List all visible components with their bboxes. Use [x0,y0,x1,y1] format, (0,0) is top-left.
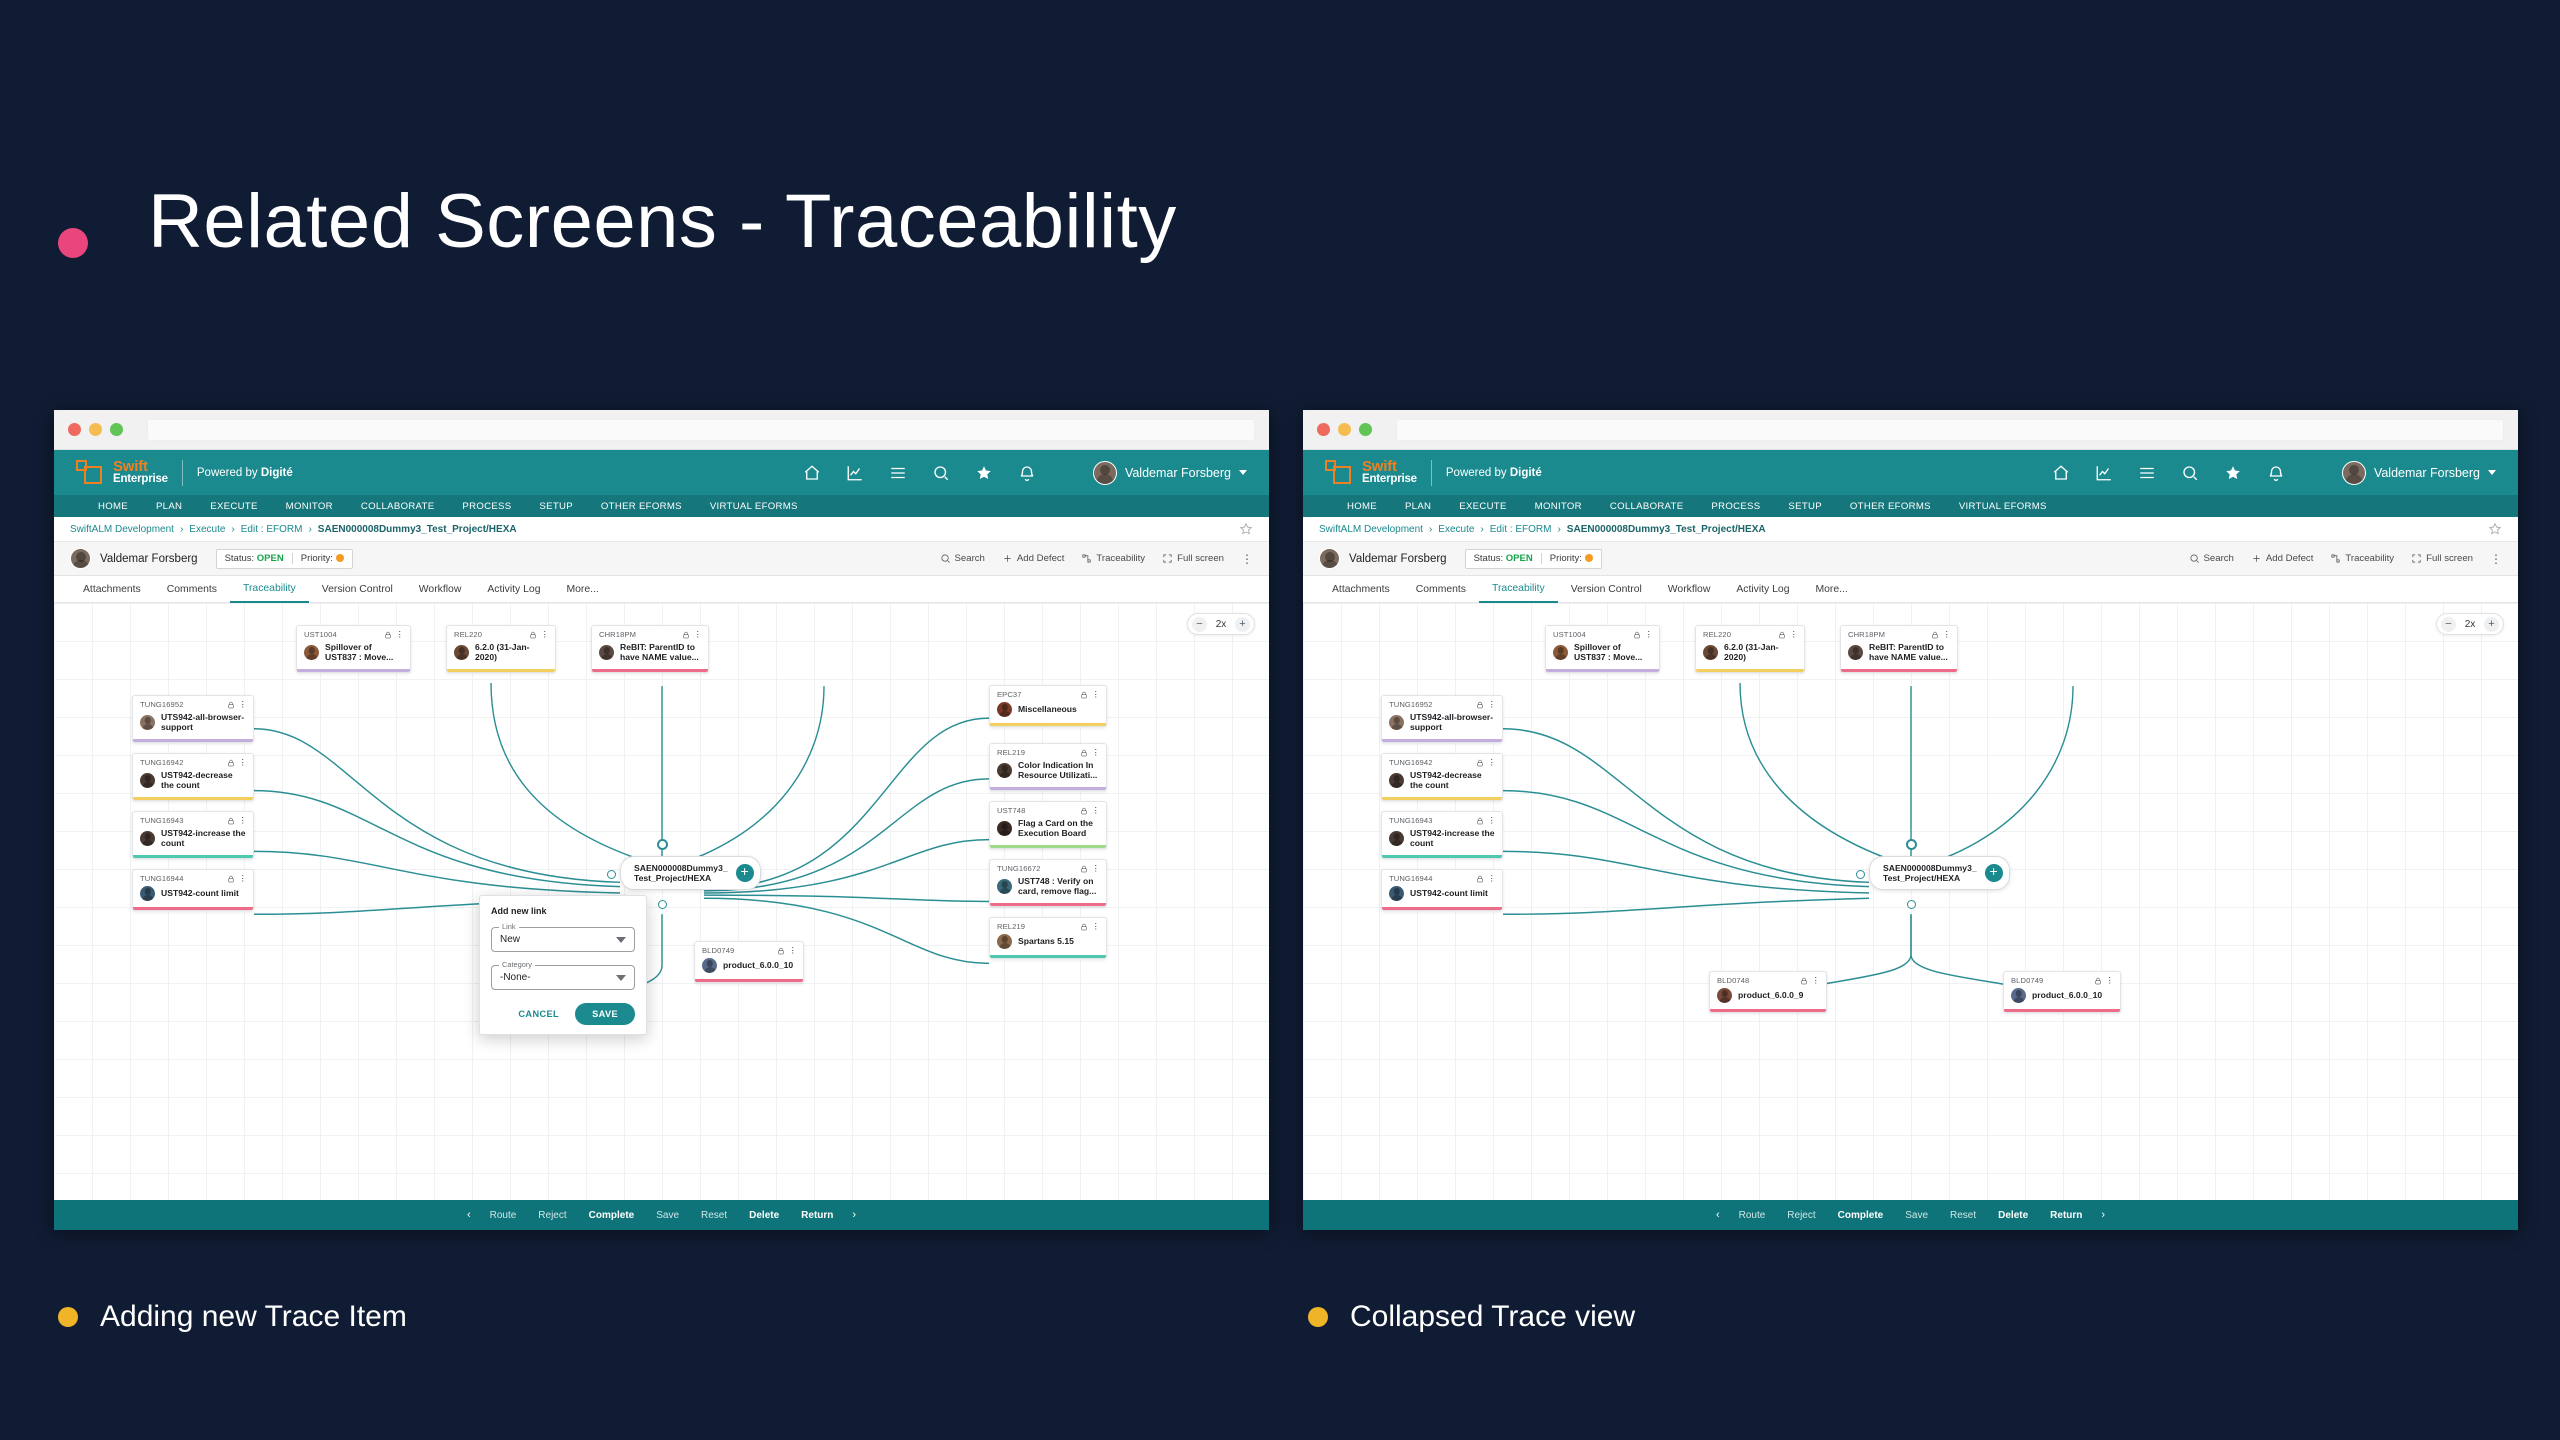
breadcrumb-item-1[interactable]: Execute [1438,524,1474,535]
nav-item-monitor[interactable]: MONITOR [1521,501,1596,512]
footer-reset-button[interactable]: Reset [690,1210,738,1221]
brand-name-line1: Swift [113,459,168,474]
zoom-in-button[interactable]: + [2484,617,2499,632]
node-accent [133,797,253,800]
avatar [1319,548,1340,569]
node-title: product_6.0.0_10 [2032,990,2102,1000]
trace-node[interactable]: UST1004 ⋮ Spillover of UST837 : Move... [296,625,411,673]
search-action[interactable]: Search [2189,553,2234,564]
category-select-field[interactable]: Category -None- [491,965,635,990]
home-icon[interactable] [803,464,821,482]
node-menu-icon[interactable]: ⋮ [1092,922,1101,931]
window-minimize-dot[interactable] [89,423,102,436]
window-close-dot[interactable] [68,423,81,436]
full-screen-action[interactable]: Full screen [2411,553,2473,564]
node-title: UST942-decrease the count [161,770,246,791]
node-accent [990,903,1106,906]
record-tabs: Attachments Comments Traceability Versio… [54,576,1269,603]
node-menu-icon[interactable]: ⋮ [1645,630,1654,639]
node-menu-icon[interactable]: ⋮ [1812,976,1821,985]
connector-bottom-dot[interactable] [1907,900,1916,909]
node-accent [1382,855,1502,858]
trace-node[interactable]: REL219 ⋮ Spartans 5.15 [989,917,1107,959]
node-menu-icon[interactable]: ⋮ [239,758,248,767]
node-title: UST942-decrease the count [1410,770,1495,791]
window-maximize-dot[interactable] [110,423,123,436]
trace-node[interactable]: CHR18PM ⋮ ReBIT: ParentID to have NAME v… [591,625,709,673]
node-menu-icon[interactable]: ⋮ [239,874,248,883]
tab-workflow[interactable]: Workflow [1655,576,1724,603]
node-menu-icon[interactable]: ⋮ [1488,874,1497,883]
connector-bottom-dot[interactable] [658,900,667,909]
node-title: UST942-increase the count [161,828,246,849]
connector-left-dot[interactable] [1856,870,1865,879]
node-id: BLD0748 [1717,976,1749,985]
bell-icon[interactable] [2267,464,2285,482]
node-menu-icon[interactable]: ⋮ [396,630,405,639]
nav-item-plan[interactable]: PLAN [142,501,196,512]
star-icon[interactable] [2224,464,2242,482]
breadcrumb-item-3[interactable]: SAEN000008Dummy3_Test_Project/HEXA [318,524,517,535]
node-accent [2004,1009,2120,1012]
node-accent [133,739,253,742]
action-footer: ‹ Route Reject Complete Save Reset Delet… [1303,1200,2518,1230]
footer-save-button[interactable]: Save [645,1210,690,1221]
search-icon[interactable] [932,464,950,482]
chart-icon[interactable] [2095,464,2113,482]
brand-logo[interactable]: Swift Enterprise [76,459,168,486]
node-accent [1841,669,1957,672]
node-title: UST942-increase the count [1410,828,1495,849]
tab-more[interactable]: More... [1802,576,1860,603]
connector-left-dot[interactable] [607,870,616,879]
node-menu-icon[interactable]: ⋮ [239,700,248,709]
caption-right-text: Collapsed Trace view [1350,1300,1635,1334]
node-menu-icon[interactable]: ⋮ [1092,748,1101,757]
trace-node[interactable]: REL219 ⋮ Color Indication In Resource Ut… [989,743,1107,791]
breadcrumb-item-0[interactable]: SwiftALM Development [1319,524,1423,535]
node-accent [1382,907,1502,910]
lock-icon [227,701,235,709]
avatar [140,831,155,846]
favorite-star-icon[interactable] [2488,522,2502,536]
cancel-button[interactable]: CANCEL [512,1005,565,1023]
tab-workflow[interactable]: Workflow [406,576,475,603]
breadcrumb-separator: › [1429,524,1432,535]
avatar [2011,988,2026,1003]
lock-icon [227,875,235,883]
avatar [1389,886,1404,901]
node-menu-icon[interactable]: ⋮ [1488,700,1497,709]
breadcrumb-separator: › [1557,524,1560,535]
node-menu-icon[interactable]: ⋮ [239,816,248,825]
caption-left: Adding new Trace Item [58,1300,407,1334]
more-options-icon[interactable]: ⋮ [1241,553,1253,565]
node-title: Spillover of UST837 : Move... [325,642,403,663]
tab-comments[interactable]: Comments [1403,576,1479,603]
footer-route-button[interactable]: Route [1728,1210,1777,1221]
node-menu-icon[interactable]: ⋮ [541,630,550,639]
nav-item-execute[interactable]: EXECUTE [196,501,271,512]
tab-traceability[interactable]: Traceability [230,576,309,603]
traceability-action[interactable]: Traceability [1081,553,1145,564]
node-id: TUNG16944 [140,874,184,883]
chevron-down-icon [1239,470,1247,475]
chevron-down-icon [2488,470,2496,475]
node-title: product_6.0.0_9 [1738,990,1803,1000]
app-header: Swift Enterprise Powered by Digité Valde… [54,450,1269,495]
trace-node[interactable]: REL220 ⋮ 6.2.0 (31-Jan-2020) [1695,625,1805,673]
node-accent [1710,1009,1826,1012]
powered-by-label: Powered by Digité [1446,467,1542,479]
breadcrumb-item-2[interactable]: Edit : EFORM [241,524,303,535]
prev-arrow-icon[interactable]: ‹ [459,1209,479,1221]
record-owner-name: Valdemar Forsberg [1349,553,1447,565]
node-title: UST748 : Verify on card, remove flag... [1018,876,1099,897]
breadcrumb-item-3[interactable]: SAEN000008Dummy3_Test_Project/HEXA [1567,524,1766,535]
node-title: product_6.0.0_10 [723,960,793,970]
traceability-canvas[interactable]: − 2x + UST1004 ⋮ Spillover of UST837 : M… [54,603,1269,1200]
nav-item-execute[interactable]: EXECUTE [1445,501,1520,512]
footer-return-button[interactable]: Return [790,1210,844,1221]
breadcrumb-item-1[interactable]: Execute [189,524,225,535]
trace-node[interactable]: BLD0749 ⋮ product_6.0.0_10 [694,941,804,983]
node-menu-icon[interactable]: ⋮ [694,630,703,639]
node-menu-icon[interactable]: ⋮ [1488,816,1497,825]
node-title: 6.2.0 (31-Jan-2020) [475,642,548,663]
zoom-level-label: 2x [2462,619,2478,630]
trace-node[interactable]: TUNG16942 ⋮ UST942-decrease the count [132,753,254,801]
nav-item-setup[interactable]: SETUP [525,501,587,512]
record-owner-name: Valdemar Forsberg [100,553,198,565]
avatar [997,702,1012,717]
center-node[interactable]: SAEN000008Dummy3_Test_Project/HEXA + [1869,856,2010,890]
node-id: TUNG16672 [997,864,1041,873]
nav-item-other-eforms[interactable]: OTHER EFORMS [587,501,696,512]
node-id: REL219 [997,748,1025,757]
add-link-button[interactable]: + [736,864,754,882]
bell-icon[interactable] [1018,464,1036,482]
nav-item-home[interactable]: HOME [1333,501,1391,512]
browser-url-bar[interactable] [1396,419,2504,441]
nav-item-virtual-eforms[interactable]: VIRTUAL EFORMS [696,501,812,512]
trace-node[interactable]: BLD0748 ⋮ product_6.0.0_9 [1709,971,1827,1013]
avatar [702,958,717,973]
lock-icon [1800,977,1808,985]
node-id: CHR18PM [599,630,636,639]
record-tabs: Attachments Comments Traceability Versio… [1303,576,2518,603]
main-nav: HOME PLAN EXECUTE MONITOR COLLABORATE PR… [1303,495,2518,517]
footer-delete-button[interactable]: Delete [738,1210,790,1221]
lock-icon [682,631,690,639]
main-nav: HOME PLAN EXECUTE MONITOR COLLABORATE PR… [54,495,1269,517]
breadcrumb-separator: › [1480,524,1483,535]
tab-attachments[interactable]: Attachments [70,576,154,603]
zoom-in-button[interactable]: + [1235,617,1250,632]
center-node-title: SAEN000008Dummy3_Test_Project/HEXA [634,863,728,884]
node-menu-icon[interactable]: ⋮ [1092,690,1101,699]
nav-item-process[interactable]: PROCESS [1697,501,1774,512]
menu-icon[interactable] [2138,464,2156,482]
priority-dot-icon [336,554,344,562]
node-title: 6.2.0 (31-Jan-2020) [1724,642,1797,663]
node-title: Spillover of UST837 : Move... [1574,642,1652,663]
trace-node[interactable]: CHR18PM ⋮ ReBIT: ParentID to have NAME v… [1840,625,1958,673]
footer-route-button[interactable]: Route [479,1210,528,1221]
header-divider [1431,460,1432,486]
user-menu[interactable]: Valdemar Forsberg [1093,461,1247,485]
tab-activity-log[interactable]: Activity Log [474,576,553,603]
node-id: UST748 [997,806,1025,815]
avatar [599,645,614,660]
nav-item-collaborate[interactable]: COLLABORATE [347,501,449,512]
trace-node[interactable]: TUNG16952 ⋮ UTS942-all-browser-support [1381,695,1503,743]
footer-complete-button[interactable]: Complete [578,1210,646,1221]
avatar [140,715,155,730]
node-menu-icon[interactable]: ⋮ [1790,630,1799,639]
link-field-label: Link [499,922,519,931]
node-accent [1382,797,1502,800]
tab-version-control[interactable]: Version Control [1558,576,1655,603]
tab-attachments[interactable]: Attachments [1319,576,1403,603]
zoom-control[interactable]: − 2x + [2436,613,2504,635]
tab-traceability[interactable]: Traceability [1479,576,1558,603]
full-screen-action[interactable]: Full screen [1162,553,1224,564]
home-icon[interactable] [2052,464,2070,482]
zoom-control[interactable]: − 2x + [1187,613,1255,635]
user-name-label: Valdemar Forsberg [1125,466,1231,480]
zoom-level-label: 2x [1213,619,1229,630]
footer-reject-button[interactable]: Reject [527,1210,577,1221]
avatar [1389,715,1404,730]
node-accent [133,907,253,910]
lock-icon [1778,631,1786,639]
breadcrumb-separator: › [180,524,183,535]
chart-icon[interactable] [846,464,864,482]
node-title: Flag a Card on the Execution Board [1018,818,1099,839]
node-id: BLD0749 [2011,976,2043,985]
tab-activity-log[interactable]: Activity Log [1723,576,1802,603]
app-header: Swift Enterprise Powered by Digité Valde… [1303,450,2518,495]
window-minimize-dot[interactable] [1338,423,1351,436]
breadcrumb-item-2[interactable]: Edit : EFORM [1490,524,1552,535]
nav-item-home[interactable]: HOME [84,501,142,512]
lock-icon [227,759,235,767]
trace-node[interactable]: TUNG16942 ⋮ UST942-decrease the count [1381,753,1503,801]
node-title: UTS942-all-browser-support [1410,712,1495,733]
trace-node[interactable]: BLD0749 ⋮ product_6.0.0_10 [2003,971,2121,1013]
priority-dot-icon [1585,554,1593,562]
node-id: TUNG16952 [140,700,184,709]
user-menu[interactable]: Valdemar Forsberg [2342,461,2496,485]
node-menu-icon[interactable]: ⋮ [1488,758,1497,767]
node-accent [133,855,253,858]
avatar [997,763,1012,778]
trace-node[interactable]: TUNG16952 ⋮ UTS942-all-browser-support [132,695,254,743]
header-divider [182,460,183,486]
node-title: ReBIT: ParentID to have NAME value... [620,642,701,663]
node-accent [990,955,1106,958]
avatar [1093,461,1117,485]
link-select-field[interactable]: Link New [491,927,635,952]
status-badge: Status: OPEN Priority: [1465,549,1602,569]
avatar [454,645,469,660]
window-chrome [1303,410,2518,450]
node-accent [1696,669,1804,672]
node-id: TUNG16942 [140,758,184,767]
lock-icon [2094,977,2102,985]
breadcrumb-item-0[interactable]: SwiftALM Development [70,524,174,535]
node-id: CHR18PM [1848,630,1885,639]
add-new-link-dialog[interactable]: Add new link Link New Category -None- CA… [479,895,647,1035]
node-id: TUNG16943 [1389,816,1433,825]
avatar [2342,461,2366,485]
brand-name-line2: Enterprise [113,474,168,486]
lock-icon [1080,691,1088,699]
caption-bullet-icon [1308,1307,1328,1327]
avatar [1717,988,1732,1003]
chevron-down-icon [616,937,626,943]
trace-node[interactable]: TUNG16944 ⋮ UST942-count limit [1381,869,1503,911]
screenshot-right-collapsed-trace-view: Swift Enterprise Powered by Digité Valde… [1303,410,2518,1230]
footer-reset-button[interactable]: Reset [1939,1210,1987,1221]
footer-complete-button[interactable]: Complete [1827,1210,1895,1221]
brand-logo[interactable]: Swift Enterprise [1325,459,1417,486]
category-field-label: Category [499,960,535,969]
footer-return-button[interactable]: Return [2039,1210,2093,1221]
priority-segment: Priority: [1541,553,1601,564]
lock-icon [1080,923,1088,931]
node-id: REL220 [1703,630,1731,639]
add-defect-action[interactable]: Add Defect [1002,553,1064,564]
priority-segment: Priority: [292,553,352,564]
connector-top-dot[interactable] [1906,839,1917,850]
traceability-action[interactable]: Traceability [2330,553,2394,564]
link-field-value: New [500,934,520,945]
nav-item-virtual-eforms[interactable]: VIRTUAL EFORMS [1945,501,2061,512]
zoom-out-button[interactable]: − [1192,617,1207,632]
center-node[interactable]: SAEN000008Dummy3_Test_Project/HEXA + [620,856,761,890]
next-arrow-icon[interactable]: › [2093,1209,2113,1221]
node-accent [990,787,1106,790]
trace-node[interactable]: REL220 ⋮ 6.2.0 (31-Jan-2020) [446,625,556,673]
prev-arrow-icon[interactable]: ‹ [1708,1209,1728,1221]
trace-node[interactable]: TUNG16672 ⋮ UST748 : Verify on card, rem… [989,859,1107,907]
lock-icon [1080,865,1088,873]
lock-icon [1476,817,1484,825]
lock-icon [1476,759,1484,767]
node-title: UST942-count limit [161,888,239,898]
window-chrome [54,410,1269,450]
trace-node[interactable]: EPC37 ⋮ Miscellaneous [989,685,1107,727]
add-defect-action[interactable]: Add Defect [2251,553,2313,564]
page-title: Related Screens - Traceability [148,178,1177,265]
star-icon[interactable] [975,464,993,482]
menu-icon[interactable] [889,464,907,482]
trace-node[interactable]: UST1004 ⋮ Spillover of UST837 : Move... [1545,625,1660,673]
user-name-label: Valdemar Forsberg [2374,466,2480,480]
lock-icon [1476,875,1484,883]
avatar [997,879,1012,894]
browser-url-bar[interactable] [147,419,1255,441]
swift-logo-icon [1325,460,1353,486]
lock-icon [1476,701,1484,709]
node-id: TUNG16944 [1389,874,1433,883]
traceability-canvas[interactable]: − 2x + UST1004 ⋮ Spillover of UST837 : M… [1303,603,2518,1200]
node-menu-icon[interactable]: ⋮ [789,946,798,955]
save-button[interactable]: SAVE [575,1003,635,1025]
lock-icon [777,947,785,955]
brand-name-line1: Swift [1362,459,1417,474]
lock-icon [1633,631,1641,639]
nav-item-plan[interactable]: PLAN [1391,501,1445,512]
caption-right: Collapsed Trace view [1308,1300,1635,1334]
trace-node[interactable]: UST748 ⋮ Flag a Card on the Execution Bo… [989,801,1107,849]
tab-version-control[interactable]: Version Control [309,576,406,603]
node-menu-icon[interactable]: ⋮ [2106,976,2115,985]
tab-comments[interactable]: Comments [154,576,230,603]
node-title: Miscellaneous [1018,704,1077,714]
slide-bullet [58,228,88,258]
trace-node[interactable]: TUNG16943 ⋮ UST942-increase the count [132,811,254,859]
nav-item-process[interactable]: PROCESS [448,501,525,512]
avatar [1389,831,1404,846]
lock-icon [1931,631,1939,639]
footer-reject-button[interactable]: Reject [1776,1210,1826,1221]
more-options-icon[interactable]: ⋮ [2490,553,2502,565]
node-id: REL219 [997,922,1025,931]
caption-bullet-icon [58,1307,78,1327]
trace-node[interactable]: TUNG16944 ⋮ UST942-count limit [132,869,254,911]
footer-save-button[interactable]: Save [1894,1210,1939,1221]
footer-delete-button[interactable]: Delete [1987,1210,2039,1221]
next-arrow-icon[interactable]: › [844,1209,864,1221]
avatar [70,548,91,569]
node-title: UST942-count limit [1410,888,1488,898]
tab-more[interactable]: More... [553,576,611,603]
add-link-button[interactable]: + [1985,864,2003,882]
lock-icon [384,631,392,639]
trace-node[interactable]: TUNG16943 ⋮ UST942-increase the count [1381,811,1503,859]
avatar [1553,645,1568,660]
avatar [997,934,1012,949]
search-icon[interactable] [2181,464,2199,482]
node-accent [990,723,1106,726]
node-title: Color Indication In Resource Utilizati..… [1018,760,1099,781]
node-id: TUNG16943 [140,816,184,825]
breadcrumb-separator: › [231,524,234,535]
node-title: ReBIT: ParentID to have NAME value... [1869,642,1950,663]
status-badge: Status: OPEN Priority: [216,549,353,569]
breadcrumb: SwiftALM Development › Execute › Edit : … [54,517,1269,542]
nav-item-setup[interactable]: SETUP [1774,501,1836,512]
favorite-star-icon[interactable] [1239,522,1253,536]
node-menu-icon[interactable]: ⋮ [1092,864,1101,873]
nav-item-collaborate[interactable]: COLLABORATE [1596,501,1698,512]
node-accent [1382,739,1502,742]
node-menu-icon[interactable]: ⋮ [1943,630,1952,639]
window-close-dot[interactable] [1317,423,1330,436]
center-node-title: SAEN000008Dummy3_Test_Project/HEXA [1883,863,1977,884]
avatar [140,773,155,788]
window-maximize-dot[interactable] [1359,423,1372,436]
node-menu-icon[interactable]: ⋮ [1092,806,1101,815]
nav-item-monitor[interactable]: MONITOR [272,501,347,512]
nav-item-other-eforms[interactable]: OTHER EFORMS [1836,501,1945,512]
connector-top-dot[interactable] [657,839,668,850]
zoom-out-button[interactable]: − [2441,617,2456,632]
search-action[interactable]: Search [940,553,985,564]
